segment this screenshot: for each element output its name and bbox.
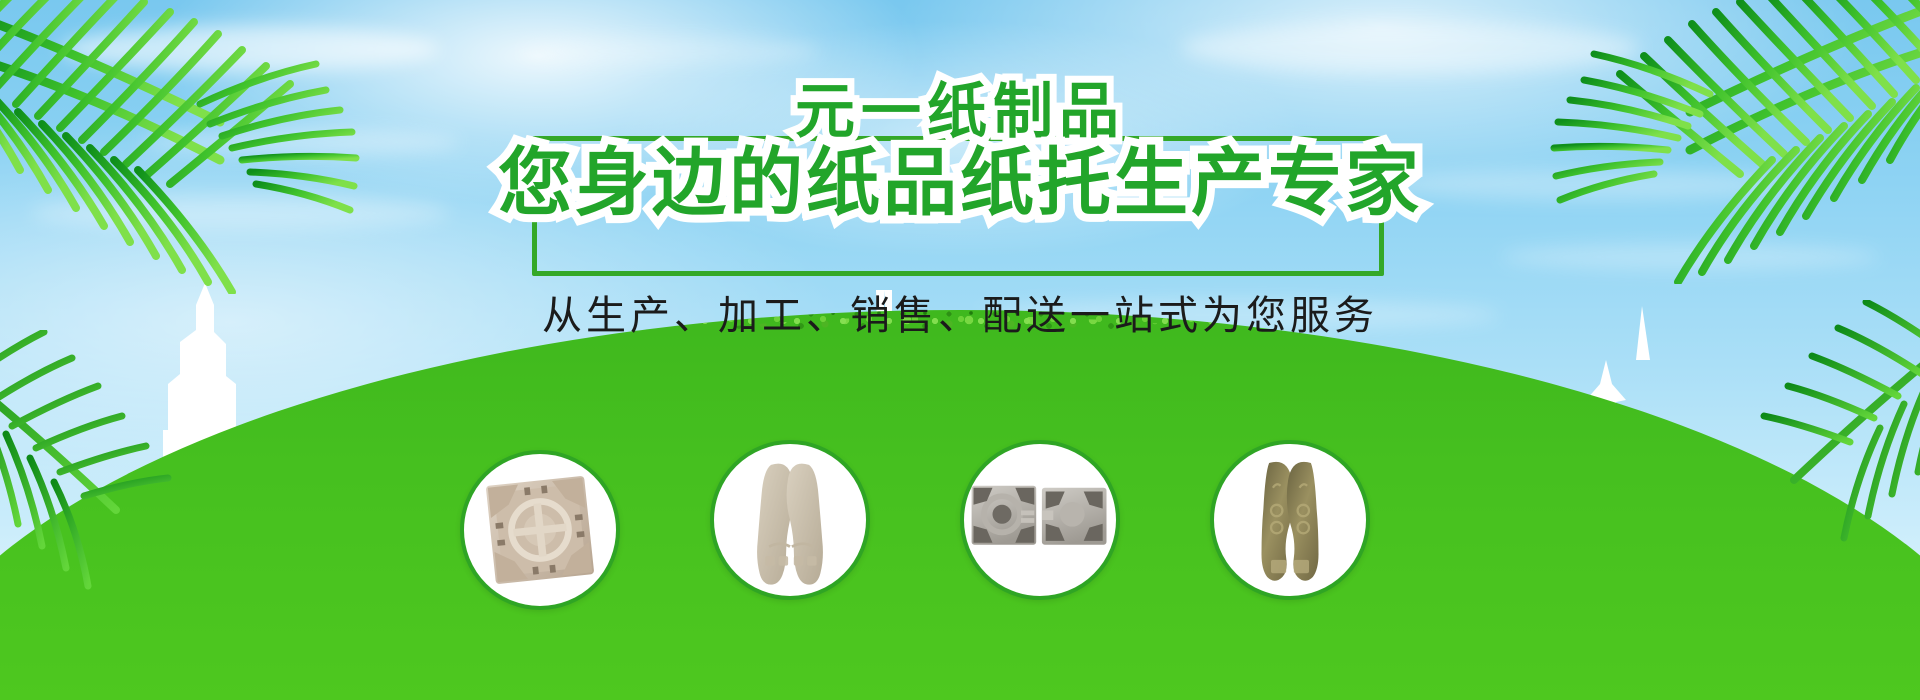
product-circle-pulp-shoe-shaper-olive[interactable] (1210, 440, 1370, 600)
palm-leaf-icon-bottom-right (1680, 300, 1920, 550)
grey-pulp-inserts-pair-icon (964, 444, 1116, 596)
grass-texture-front (0, 310, 1920, 700)
promo-banner: 元一纸制品 您身边的纸品纸托生产专家 从生产、加工、销售、配送一站式为您服务 (0, 0, 1920, 700)
green-hill (0, 280, 1920, 700)
product-circle-pulp-shoe-shaper-beige[interactable] (710, 440, 870, 600)
palm-leaf-icon-top-left (0, 0, 520, 294)
pulp-shoe-shaper-olive-icon (1214, 444, 1366, 596)
product-circle-square-pulp-tray[interactable] (460, 450, 620, 610)
palm-leaf-icon-bottom-left (0, 330, 230, 590)
headline-line-1-text: 元一纸制品 (761, 82, 1159, 142)
pulp-shoe-shaper-beige-icon (714, 444, 866, 596)
square-pulp-tray-icon (464, 454, 616, 606)
palm-leaf-icon-top-right (1390, 0, 1920, 284)
product-circle-grey-pulp-inserts-pair[interactable] (960, 440, 1120, 600)
headline-subtitle: 从生产、加工、销售、配送一站式为您服务 (0, 290, 1920, 342)
cloud-icon (520, 36, 820, 66)
